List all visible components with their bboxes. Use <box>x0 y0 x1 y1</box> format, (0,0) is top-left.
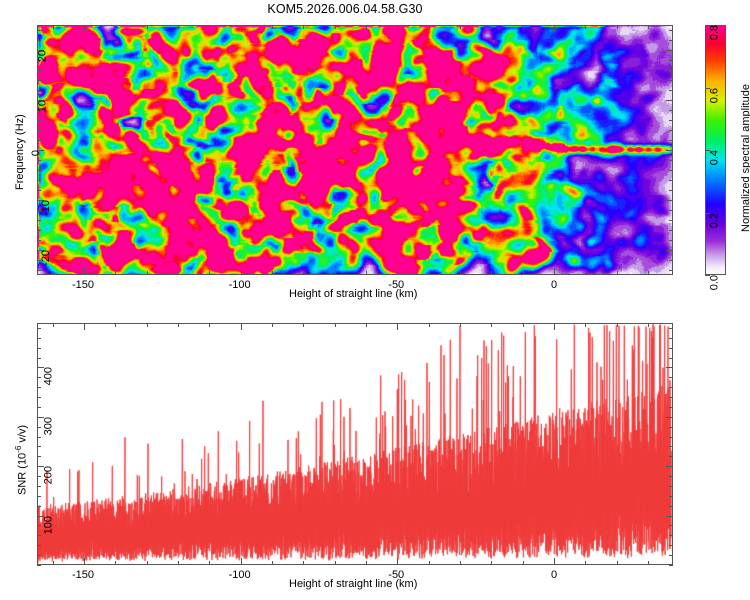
axis-tick <box>209 25 210 29</box>
axis-tick <box>669 338 673 339</box>
axis-tick <box>303 271 304 275</box>
axis-tick <box>37 535 41 536</box>
axis-tick <box>429 561 430 565</box>
axis-tick <box>669 120 673 121</box>
axis-tick <box>37 476 41 477</box>
axis-tick <box>303 561 304 565</box>
axis-tick <box>37 387 41 388</box>
axis-tick <box>523 323 524 327</box>
axis-tick <box>460 25 461 29</box>
axis-tick <box>366 561 367 565</box>
axis-tick <box>37 555 41 556</box>
axis-tick <box>585 323 586 327</box>
spectrogram-yaxis-label: Frequency (Hz) <box>14 114 26 190</box>
axis-tick <box>397 323 398 330</box>
axis-tick <box>669 358 673 359</box>
axis-tick-label: 0 <box>551 569 557 581</box>
axis-tick <box>37 328 41 329</box>
axis-tick <box>37 240 41 241</box>
axis-tick-label: 200 <box>42 466 54 484</box>
axis-tick <box>335 25 336 29</box>
axis-tick <box>178 561 179 565</box>
axis-tick <box>37 170 41 171</box>
spectrogram-image <box>38 26 672 274</box>
axis-tick <box>460 271 461 275</box>
axis-tick <box>37 70 41 71</box>
axis-tick <box>37 348 41 349</box>
axis-tick <box>37 30 41 31</box>
axis-tick <box>37 180 41 181</box>
axis-tick <box>669 60 673 61</box>
colorbar-tick-label: 0.2 <box>708 213 720 228</box>
axis-tick <box>669 437 673 438</box>
axis-tick <box>37 397 41 398</box>
axis-tick <box>37 545 41 546</box>
axis-tick <box>147 561 148 565</box>
axis-tick <box>429 25 430 29</box>
axis-tick-label: 100 <box>42 516 54 534</box>
colorbar-tick-label: 0.0 <box>708 275 720 290</box>
axis-tick <box>84 558 85 565</box>
axis-tick <box>37 40 41 41</box>
axis-tick <box>53 323 54 327</box>
axis-tick <box>241 25 242 32</box>
axis-tick-label: -100 <box>229 569 251 581</box>
axis-tick <box>669 260 673 261</box>
axis-tick <box>491 25 492 29</box>
axis-tick <box>37 230 41 231</box>
axis-tick <box>303 323 304 327</box>
axis-tick <box>666 200 673 201</box>
axis-tick <box>147 323 148 327</box>
axis-tick-label: -150 <box>72 279 94 291</box>
axis-tick <box>666 250 673 251</box>
axis-tick <box>669 170 673 171</box>
axis-tick <box>429 271 430 275</box>
axis-tick <box>53 271 54 275</box>
axis-tick-label: 0 <box>30 150 42 156</box>
snr-yaxis-label-exponent: -6 <box>14 446 23 453</box>
axis-tick <box>272 25 273 29</box>
axis-tick <box>178 271 179 275</box>
axis-tick <box>666 150 673 151</box>
axis-tick <box>37 456 41 457</box>
axis-tick <box>669 377 673 378</box>
axis-tick <box>37 90 41 91</box>
axis-tick <box>669 565 673 566</box>
axis-tick <box>84 25 85 32</box>
axis-tick <box>37 437 41 438</box>
snr-yaxis-label: SNR (10-6 v/v) <box>14 425 29 495</box>
axis-tick <box>37 338 41 339</box>
axis-tick <box>669 535 673 536</box>
axis-tick <box>53 25 54 29</box>
axis-tick <box>669 456 673 457</box>
axis-tick <box>37 486 41 487</box>
axis-tick <box>669 160 673 161</box>
axis-tick <box>37 377 41 378</box>
axis-tick <box>617 323 618 327</box>
axis-tick <box>37 427 41 428</box>
axis-tick <box>669 80 673 81</box>
axis-tick <box>37 407 41 408</box>
axis-tick <box>666 367 673 368</box>
axis-tick <box>335 561 336 565</box>
axis-tick <box>460 323 461 327</box>
axis-tick <box>585 271 586 275</box>
axis-tick <box>335 271 336 275</box>
axis-tick <box>669 486 673 487</box>
axis-tick <box>669 506 673 507</box>
axis-tick <box>554 558 555 565</box>
axis-tick <box>585 561 586 565</box>
axis-tick <box>241 323 242 330</box>
axis-tick <box>648 323 649 327</box>
axis-tick <box>669 387 673 388</box>
axis-tick-label: 300 <box>42 417 54 435</box>
axis-tick <box>669 545 673 546</box>
axis-tick <box>429 323 430 327</box>
axis-tick <box>37 80 41 81</box>
axis-tick <box>554 268 555 275</box>
axis-tick <box>115 271 116 275</box>
axis-tick <box>460 561 461 565</box>
axis-tick <box>669 348 673 349</box>
axis-tick <box>669 40 673 41</box>
axis-tick <box>666 50 673 51</box>
axis-tick <box>366 25 367 29</box>
axis-tick <box>491 323 492 327</box>
axis-tick <box>115 323 116 327</box>
snr-yaxis-label-prefix: SNR (10 <box>17 453 29 495</box>
axis-tick <box>669 210 673 211</box>
axis-tick <box>669 270 673 271</box>
colorbar-tick-label: 0.6 <box>708 88 720 103</box>
axis-tick <box>669 407 673 408</box>
axis-tick <box>669 397 673 398</box>
axis-tick <box>523 25 524 29</box>
axis-tick <box>37 525 41 526</box>
axis-tick <box>669 90 673 91</box>
axis-tick <box>523 561 524 565</box>
axis-tick <box>397 268 398 275</box>
axis-tick <box>669 180 673 181</box>
axis-tick-label: -100 <box>229 279 251 291</box>
axis-tick <box>241 558 242 565</box>
axis-tick <box>397 558 398 565</box>
axis-tick <box>37 496 41 497</box>
axis-tick <box>669 70 673 71</box>
axis-tick <box>648 561 649 565</box>
snr-plot-area <box>37 323 673 565</box>
axis-tick <box>147 271 148 275</box>
axis-tick <box>272 271 273 275</box>
axis-tick <box>617 561 618 565</box>
axis-tick <box>648 25 649 29</box>
axis-tick <box>272 323 273 327</box>
axis-tick <box>366 323 367 327</box>
axis-tick <box>209 323 210 327</box>
axis-tick <box>303 25 304 29</box>
axis-tick <box>491 271 492 275</box>
axis-tick <box>209 561 210 565</box>
axis-tick-label: 0 <box>551 279 557 291</box>
axis-tick <box>37 160 41 161</box>
snr-xaxis-label: Height of straight line (km) <box>289 578 417 590</box>
axis-tick <box>669 130 673 131</box>
axis-tick <box>178 25 179 29</box>
axis-tick <box>523 271 524 275</box>
axis-tick <box>669 230 673 231</box>
axis-tick <box>669 30 673 31</box>
figure-root: KOM5.2026.006.04.58.G30 -150-100-500-20-… <box>0 0 750 600</box>
axis-tick-label: 20 <box>36 50 48 62</box>
axis-tick <box>669 328 673 329</box>
axis-tick-label: 400 <box>42 367 54 385</box>
axis-tick <box>272 561 273 565</box>
axis-tick <box>37 506 41 507</box>
axis-tick <box>37 270 41 271</box>
axis-tick <box>669 190 673 191</box>
axis-tick <box>209 271 210 275</box>
axis-tick <box>147 25 148 29</box>
colorbar-tick-label: 0.8 <box>708 25 720 40</box>
axis-tick-label: -10 <box>40 200 52 216</box>
colorbar-tick-label: 0.4 <box>708 150 720 165</box>
axis-tick <box>37 190 41 191</box>
axis-tick <box>669 496 673 497</box>
axis-tick <box>666 466 673 467</box>
axis-tick <box>669 476 673 477</box>
axis-tick <box>585 25 586 29</box>
axis-tick <box>53 561 54 565</box>
spectrogram-xaxis-label: Height of straight line (km) <box>289 288 417 300</box>
axis-tick <box>37 565 41 566</box>
axis-tick <box>335 323 336 327</box>
axis-tick <box>37 220 41 221</box>
colorbar-label: Normalized spectral amplitude <box>740 84 750 232</box>
axis-tick <box>669 446 673 447</box>
spectrogram-plot-area <box>37 25 673 275</box>
axis-tick <box>648 271 649 275</box>
axis-tick <box>669 140 673 141</box>
axis-tick <box>366 271 367 275</box>
snr-yaxis-label-suffix: v/v) <box>17 425 29 446</box>
axis-tick <box>37 120 41 121</box>
axis-tick <box>115 25 116 29</box>
axis-tick <box>397 25 398 32</box>
axis-tick <box>37 140 41 141</box>
axis-tick <box>666 417 673 418</box>
axis-tick <box>666 516 673 517</box>
axis-tick <box>669 555 673 556</box>
axis-tick <box>491 561 492 565</box>
axis-tick <box>617 271 618 275</box>
axis-tick <box>178 323 179 327</box>
axis-tick <box>37 446 41 447</box>
axis-tick <box>37 358 41 359</box>
axis-tick-label: -20 <box>40 250 52 266</box>
axis-tick <box>84 268 85 275</box>
axis-tick <box>669 240 673 241</box>
axis-tick <box>241 268 242 275</box>
snr-trace-image <box>38 324 672 564</box>
axis-tick <box>666 100 673 101</box>
figure-title: KOM5.2026.006.04.58.G30 <box>0 2 690 16</box>
axis-tick <box>554 25 555 32</box>
axis-tick <box>669 525 673 526</box>
axis-tick <box>669 110 673 111</box>
axis-tick <box>115 561 116 565</box>
axis-tick <box>617 25 618 29</box>
axis-tick <box>84 323 85 330</box>
axis-tick-label: 10 <box>36 100 48 112</box>
axis-tick <box>37 130 41 131</box>
axis-tick <box>669 427 673 428</box>
axis-tick <box>554 323 555 330</box>
axis-tick-label: -150 <box>72 569 94 581</box>
axis-tick <box>669 220 673 221</box>
